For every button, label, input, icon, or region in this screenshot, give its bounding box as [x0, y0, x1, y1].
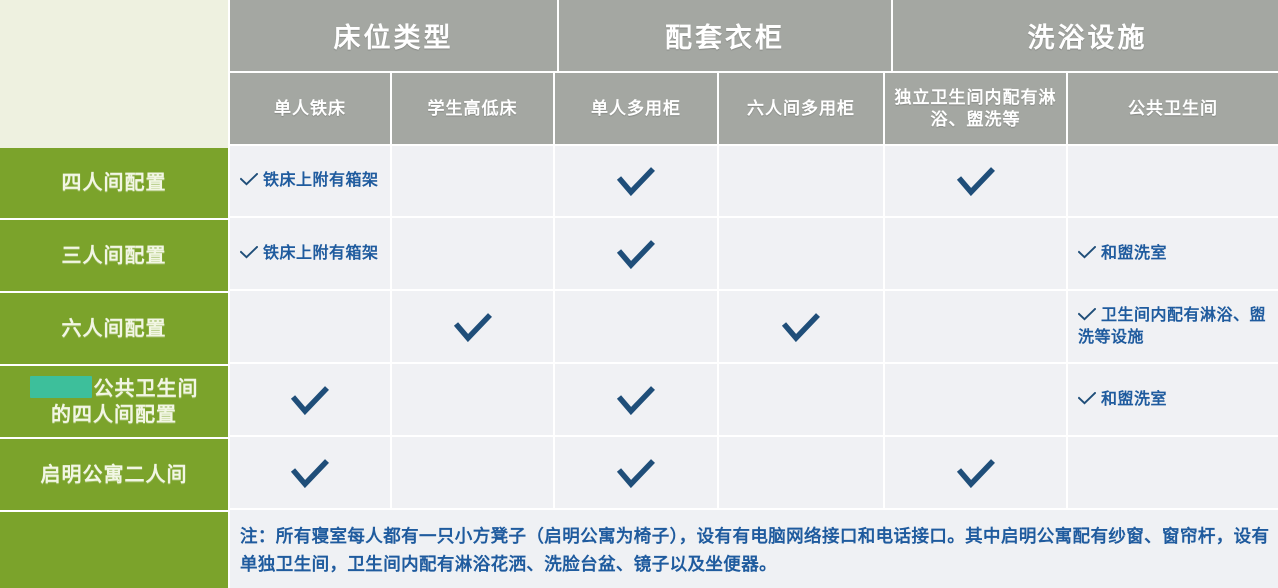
cell-r3c4 [719, 291, 885, 362]
table-note-row: 注：所有寝室每人都有一只小方凳子（启明公寓为椅子），设有有电脑网络接口和电话接口… [230, 510, 1278, 588]
table-corner-cell [0, 0, 230, 148]
row-label-line1: 公共卫生间 [94, 378, 199, 400]
check-icon [240, 246, 258, 259]
cell-r3c1 [230, 291, 392, 362]
table-note: 注：所有寝室每人都有一只小方凳子（启明公寓为椅子），设有有电脑网络接口和电话接口… [230, 510, 1278, 588]
cell-r1c2 [392, 146, 555, 216]
cell-r3c2 [392, 291, 555, 362]
row-label-text: 启明公寓二人间 [0, 462, 228, 488]
header-col-six-person-cabinet: 六人间多用柜 [719, 73, 885, 144]
cell-r4c1 [230, 364, 392, 435]
check-icon [615, 166, 657, 196]
header-group-bath-facility: 洗浴设施 [893, 0, 1278, 71]
row-label-text: 六人间配置 [0, 316, 228, 342]
cell-r2c3 [555, 218, 719, 289]
row-label-four-person[interactable]: 四人间配置 [0, 148, 230, 220]
check-icon [452, 312, 494, 342]
cell-text: 铁床上附有箱架 [263, 172, 379, 189]
cell-r5c4 [719, 437, 885, 508]
cell-text: 和盥洗室 [1101, 391, 1167, 408]
row-label-public-bath-four-person[interactable]: 公共卫生间的四人间配置 [0, 366, 230, 439]
table-row: 铁床上附有箱架 和盥洗室 [230, 218, 1278, 291]
table-row: 卫生间内配有淋浴、盥洗等设施 [230, 291, 1278, 364]
cell-r5c2 [392, 437, 555, 508]
cell-r1c5 [885, 146, 1068, 216]
table-rows: 铁床上附有箱架 铁床上附有箱架 [230, 146, 1278, 588]
cell-r4c6: 和盥洗室 [1068, 364, 1278, 435]
check-icon [289, 458, 331, 488]
cell-r2c2 [392, 218, 555, 289]
cell-r3c3 [555, 291, 719, 362]
check-with-label: 铁床上附有箱架 [240, 243, 379, 265]
cell-text: 铁床上附有箱架 [263, 245, 379, 262]
row-label-qiming-two-person[interactable]: 启明公寓二人间 [0, 439, 230, 512]
check-icon [780, 312, 822, 342]
check-icon [615, 458, 657, 488]
check-icon [955, 166, 997, 196]
table-row: 铁床上附有箱架 [230, 146, 1278, 218]
cell-r2c4 [719, 218, 885, 289]
check-icon [289, 385, 331, 415]
cell-r4c2 [392, 364, 555, 435]
redaction-block-icon [30, 376, 92, 398]
header-group-wardrobe: 配套衣柜 [559, 0, 893, 71]
row-label-text-wrapped: 公共卫生间的四人间配置 [0, 376, 228, 428]
check-icon [1078, 246, 1096, 259]
cell-r5c6 [1068, 437, 1278, 508]
cell-r5c5 [885, 437, 1068, 508]
header-group-bed-type: 床位类型 [230, 0, 559, 71]
row-label-three-person[interactable]: 三人间配置 [0, 220, 230, 293]
cell-text: 卫生间内配有淋浴、盥洗等设施 [1078, 307, 1266, 346]
cell-text: 和盥洗室 [1101, 245, 1167, 262]
check-icon [1078, 392, 1096, 405]
row-label-column: 四人间配置 三人间配置 六人间配置 公共卫生间的四人间配置 启明公寓二人间 [0, 0, 230, 588]
header-col-single-iron-bed: 单人铁床 [230, 73, 392, 144]
check-with-label: 卫生间内配有淋浴、盥洗等设施 [1078, 305, 1270, 348]
cell-r4c4 [719, 364, 885, 435]
row-label-line2: 的四人间配置 [51, 404, 177, 426]
table-body-column: 床位类型 配套衣柜 洗浴设施 单人铁床 学生高低床 单人多用柜 六人间多用柜 独… [230, 0, 1278, 588]
check-icon [615, 385, 657, 415]
check-icon [1078, 308, 1096, 321]
row-label-six-person[interactable]: 六人间配置 [0, 293, 230, 366]
table-row [230, 437, 1278, 510]
header-col-private-bathroom: 独立卫生间内配有淋浴、盥洗等 [885, 73, 1068, 144]
header-col-public-bathroom: 公共卫生间 [1068, 73, 1278, 144]
check-icon [955, 458, 997, 488]
cell-r4c5 [885, 364, 1068, 435]
cell-r4c3 [555, 364, 719, 435]
cell-r1c4 [719, 146, 885, 216]
cell-r2c5 [885, 218, 1068, 289]
cell-r5c1 [230, 437, 392, 508]
cell-r1c1: 铁床上附有箱架 [230, 146, 392, 216]
cell-r1c6 [1068, 146, 1278, 216]
header-group-row: 床位类型 配套衣柜 洗浴设施 [230, 0, 1278, 73]
row-label-text: 四人间配置 [0, 170, 228, 196]
header-sub-row: 单人铁床 学生高低床 单人多用柜 六人间多用柜 独立卫生间内配有淋浴、盥洗等 公… [230, 73, 1278, 146]
header-col-single-multiuse-cabinet: 单人多用柜 [555, 73, 719, 144]
cell-r3c5 [885, 291, 1068, 362]
table-row: 和盥洗室 [230, 364, 1278, 437]
check-with-label: 和盥洗室 [1078, 389, 1167, 411]
cell-r2c1: 铁床上附有箱架 [230, 218, 392, 289]
check-icon [240, 173, 258, 186]
cell-r1c3 [555, 146, 719, 216]
check-icon [615, 239, 657, 269]
cell-r2c6: 和盥洗室 [1068, 218, 1278, 289]
row-label-footer-filler [0, 512, 230, 588]
check-with-label: 铁床上附有箱架 [240, 170, 379, 192]
header-col-student-bunk-bed: 学生高低床 [392, 73, 555, 144]
cell-r5c3 [555, 437, 719, 508]
row-label-text: 三人间配置 [0, 243, 228, 269]
cell-r3c6: 卫生间内配有淋浴、盥洗等设施 [1068, 291, 1278, 362]
check-with-label: 和盥洗室 [1078, 243, 1167, 265]
comparison-table: 四人间配置 三人间配置 六人间配置 公共卫生间的四人间配置 启明公寓二人间 床位… [0, 0, 1278, 588]
